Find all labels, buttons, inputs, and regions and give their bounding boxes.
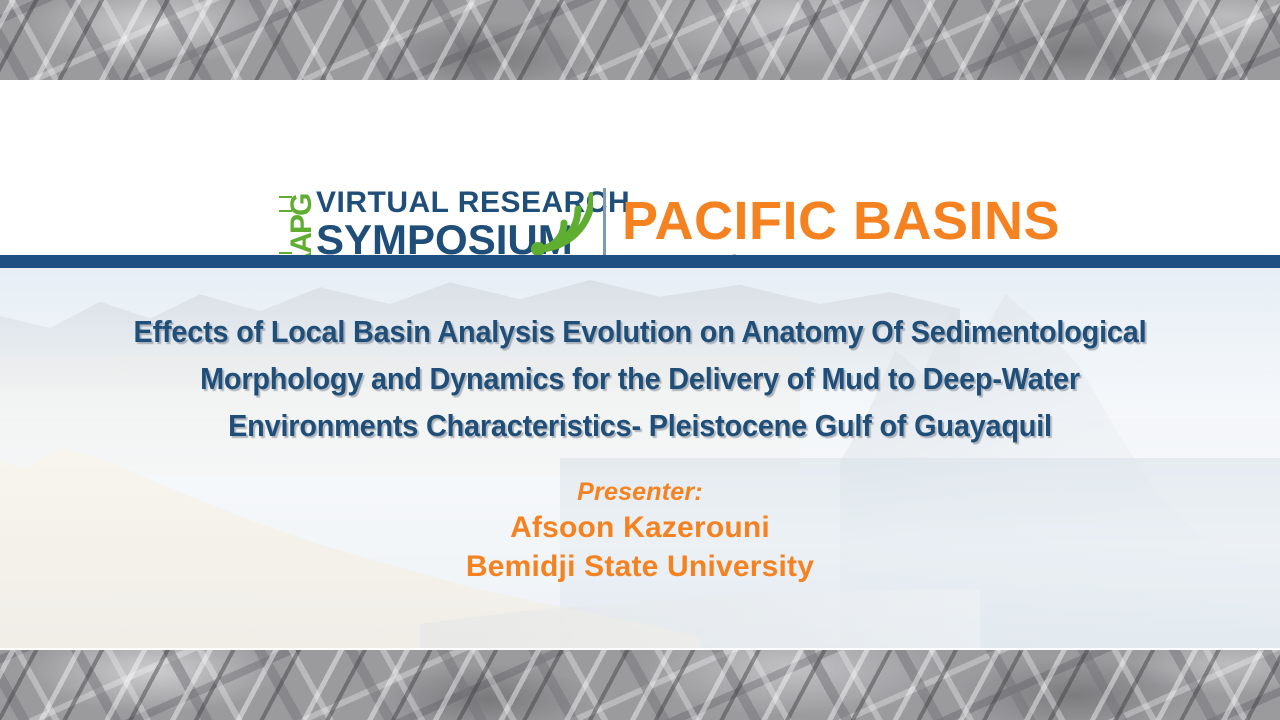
presenter-label: Presenter: [0, 476, 1280, 508]
title-line-1: Effects of Local Basin Analysis Evolutio… [101, 308, 1180, 355]
presenter-block: Presenter: Afsoon Kazerouni Bemidji Stat… [0, 476, 1280, 586]
main-content-area: Effects of Local Basin Analysis Evolutio… [0, 268, 1280, 650]
top-texture-band [0, 0, 1280, 80]
header-bar: AAPG VIRTUAL RESEARCH SYMPOSIUM Latin Am… [0, 80, 1280, 255]
title-slide: AAPG VIRTUAL RESEARCH SYMPOSIUM Latin Am… [0, 0, 1280, 720]
presenter-name: Afsoon Kazerouni [0, 508, 1280, 547]
bottom-texture-band [0, 650, 1280, 720]
title-line-2: Morphology and Dynamics for the Delivery… [101, 355, 1180, 402]
event-title: PACIFIC BASINS [622, 192, 1060, 250]
aapg-tick-3 [279, 252, 292, 254]
title-line-3: Environments Characteristics- Pleistocen… [101, 402, 1180, 449]
blue-divider-bar [0, 255, 1280, 268]
logo-line-virtual-research: VIRTUAL RESEARCH [316, 188, 638, 218]
presentation-title: Effects of Local Basin Analysis Evolutio… [60, 308, 1220, 449]
presenter-affiliation: Bemidji State University [0, 547, 1280, 586]
